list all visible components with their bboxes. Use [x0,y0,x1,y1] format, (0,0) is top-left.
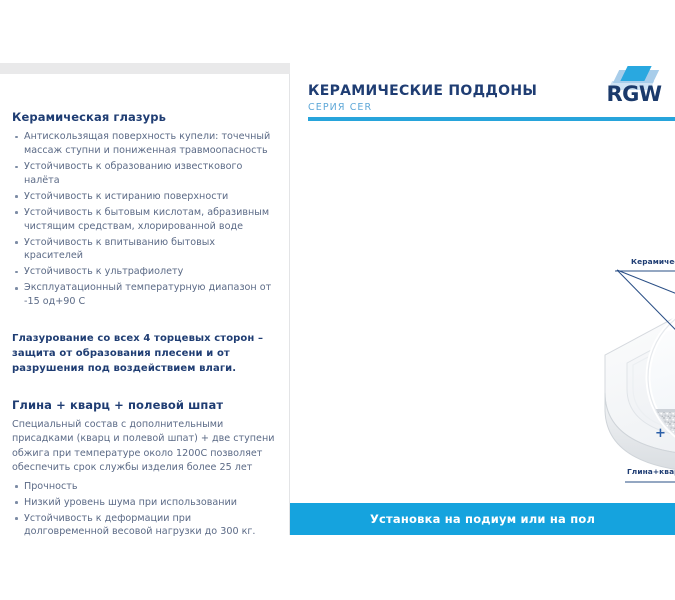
list-item: Устойчивость к ультрафиолету [12,265,276,279]
glazing-highlight-text: Глазурование со всех 4 торцевых сторон –… [12,331,276,376]
left-info-panel: Керамическая глазурь Антискользящая пове… [0,74,290,535]
list-item: Эксплуатационный температурную диапазон … [12,281,276,308]
section-heading-ceramic-glaze: Керамическая глазурь [12,110,276,124]
list-item: Устойчивость к истиранию поверхности [12,190,276,204]
shower-tray-drawing: + [585,243,675,493]
product-illustration: + Керамическая глазурь Глина+кварц+полев [585,243,675,493]
right-product-panel: КЕРАМИЧЕСКИЕ ПОДДОНЫ СЕРИЯ CER [290,63,675,535]
installation-banner-text: Установка на подиум или на пол [370,512,595,526]
logo-wordmark: RGW [600,82,668,106]
callout-ceramic-glaze: Керамическая глазурь [631,257,675,266]
ceramic-glaze-feature-list: Антискользящая поверхность купели: точеч… [12,130,276,308]
list-item: Антискользящая поверхность купели: точеч… [12,130,276,157]
list-item: Устойчивость к образованию известкового … [12,160,276,187]
list-item: Устойчивость к деформации при долговреме… [12,512,276,539]
header-accent-rule [308,117,675,121]
list-item: Низкий уровень шума при использовании [12,496,276,510]
rgw-logo: RGW [600,64,668,114]
list-item: Устойчивость к впитыванию бытовых красит… [12,236,276,263]
plus-sign-icon: + [655,426,666,441]
list-item: Устойчивость к бытовым кислотам, абразив… [12,206,276,233]
composition-feature-list: Прочность Низкий уровень шума при исполь… [12,480,276,539]
callout-clay-quartz-feldspar: Глина+кварц+полевой шпат [627,467,675,476]
installation-banner: Установка на подиум или на пол [290,503,675,535]
composition-paragraph: Специальный состав с дополнительными при… [12,418,276,476]
section-heading-clay-quartz-feldspar: Глина + кварц + полевой шпат [12,398,276,412]
list-item: Прочность [12,480,276,494]
